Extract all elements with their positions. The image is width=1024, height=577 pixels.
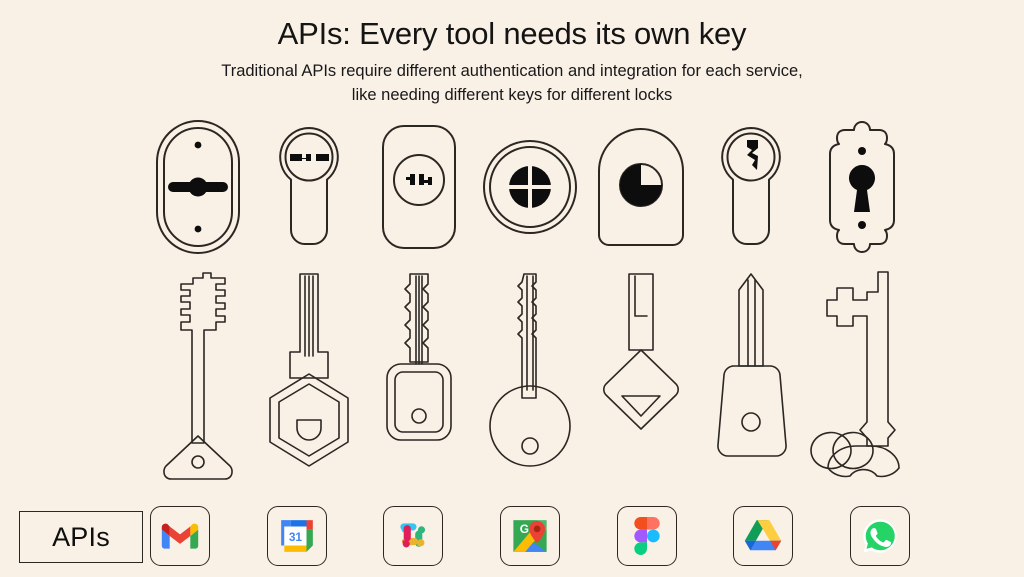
key-cell-3 xyxy=(371,268,467,483)
lock-euro-cylinder-slot-keyhole-icon xyxy=(278,126,340,248)
key-double-jagged-bit-triangle-bow-icon xyxy=(157,268,239,480)
apis-label-box: APIs xyxy=(19,511,143,563)
calendar-day-number: 31 xyxy=(288,530,302,544)
key-cell-4 xyxy=(482,268,578,483)
key-grooved-blade-hexagon-bow-icon xyxy=(264,268,354,468)
bottom-app-strip: APIs xyxy=(0,498,1024,577)
app-tile-google-drive[interactable] xyxy=(733,506,793,566)
lock-cell-5 xyxy=(593,115,689,260)
slack-icon xyxy=(394,517,432,555)
page-subtitle: Traditional APIs require different authe… xyxy=(0,60,1024,108)
gmail-icon xyxy=(161,517,199,555)
svg-text:G: G xyxy=(520,522,529,536)
key-notched-blade-circle-bow-icon xyxy=(489,268,571,474)
app-tile-gmail[interactable] xyxy=(150,506,210,566)
lock-cell-6 xyxy=(703,115,799,260)
lock-cell-2 xyxy=(261,115,357,260)
key-stepped-bit-double-lobe-bow-icon xyxy=(823,268,901,480)
key-wavy-blade-rounded-square-bow-icon xyxy=(379,268,459,464)
lock-oval-double-outline-bar-keyhole-icon xyxy=(155,119,241,255)
lock-ornate-plate-classic-keyhole-icon xyxy=(820,119,904,255)
key-cell-5 xyxy=(593,268,689,483)
app-icon-list: 31 xyxy=(150,506,910,566)
figma-icon xyxy=(628,517,666,555)
app-tile-google-maps[interactable]: G xyxy=(500,506,560,566)
lock-cell-3 xyxy=(371,115,467,260)
google-drive-icon xyxy=(744,517,782,555)
key-cell-6 xyxy=(703,268,799,483)
key-flat-blade-diamond-bow-icon xyxy=(599,268,683,440)
lock-cell-7 xyxy=(814,115,910,260)
whatsapp-icon xyxy=(861,517,899,555)
key-pointed-blade-trapezoid-bow-icon xyxy=(710,268,792,464)
key-cell-7 xyxy=(814,268,910,483)
app-tile-slack[interactable] xyxy=(383,506,443,566)
keys-row xyxy=(150,268,910,488)
lock-cylinder-lightning-keyhole-icon xyxy=(720,126,782,248)
app-tile-whatsapp[interactable] xyxy=(850,506,910,566)
google-maps-icon: G xyxy=(511,517,549,555)
page-title: APIs: Every tool needs its own key xyxy=(0,16,1024,52)
lock-arch-pie-slice-keyhole-icon xyxy=(597,127,685,247)
lock-cell-1 xyxy=(150,115,246,260)
key-cell-2 xyxy=(261,268,357,483)
subtitle-line-1: Traditional APIs require different authe… xyxy=(221,62,803,80)
app-tile-figma[interactable] xyxy=(617,506,677,566)
key-cell-1 xyxy=(150,268,246,483)
lock-rounded-rect-zigzag-keyhole-icon xyxy=(381,124,457,250)
google-calendar-icon: 31 xyxy=(278,517,316,555)
lock-concentric-circle-cross-keyhole-icon xyxy=(482,139,578,235)
app-tile-google-calendar[interactable]: 31 xyxy=(267,506,327,566)
subtitle-line-2: like needing different keys for differen… xyxy=(0,84,1024,108)
slide-canvas: APIs: Every tool needs its own key Tradi… xyxy=(0,0,1024,577)
locks-row xyxy=(150,112,910,262)
lock-cell-4 xyxy=(482,115,578,260)
